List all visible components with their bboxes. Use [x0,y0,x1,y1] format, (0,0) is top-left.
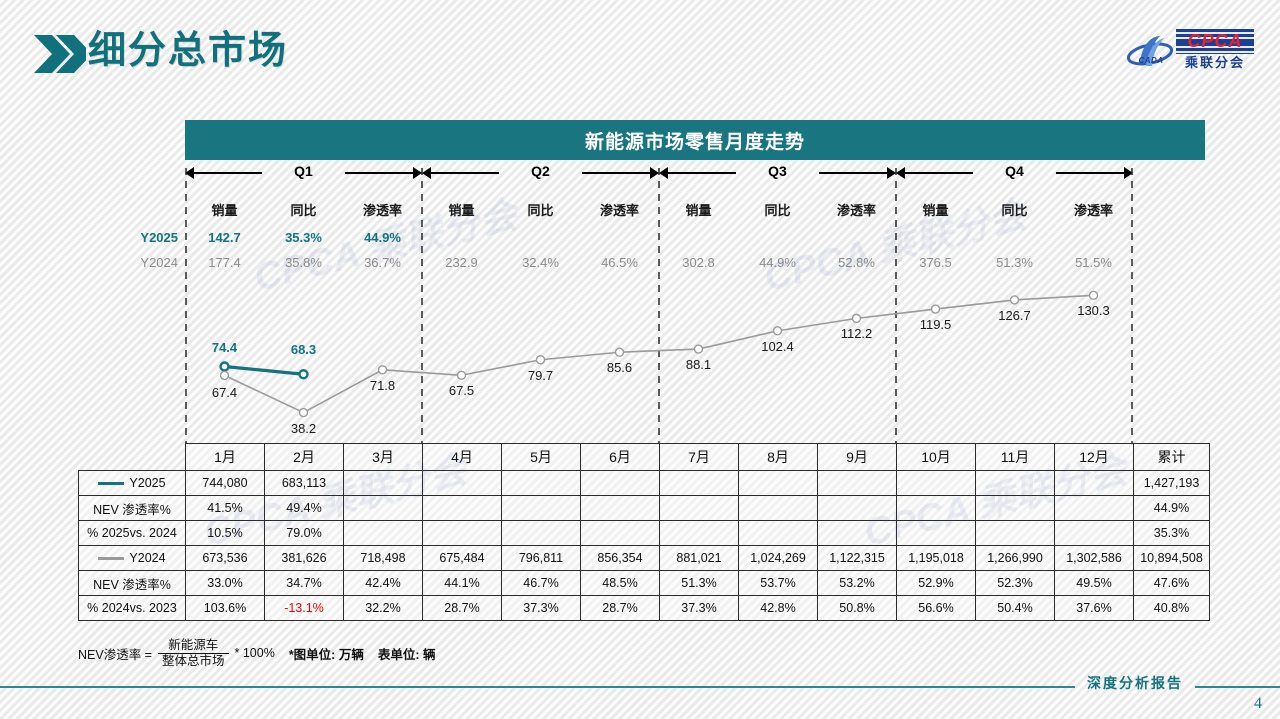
table-cell: 44.9% [1134,496,1210,521]
table-row-label-1: NEV 渗透率% [79,496,186,521]
table-cell [344,471,423,496]
slide-header: 细分总市场 CPCA 乘联分会 CADA [0,0,1280,104]
data-point-y2024-6 [695,345,703,353]
data-label-y2025-1: 68.3 [274,342,334,357]
table-cell [502,471,581,496]
table-row: % 2025vs. 202410.5%79.0%35.3% [79,521,1210,546]
footer-label: 深度分析报告 [1087,677,1183,692]
footnote-suffix: * 100% [235,646,275,660]
row-label-text: NEV 渗透率% [93,503,171,517]
line-chart-plot: 74.468.367.438.271.867.579.785.688.1102.… [185,168,1205,443]
table-row: % 2024vs. 2023103.6%-13.1%32.2%28.7%37.3… [79,596,1210,621]
table-cell: 10,894,508 [1134,546,1210,571]
table-cell: 381,626 [265,546,344,571]
data-label-y2024-0: 67.4 [195,385,255,400]
data-point-y2024-7 [774,327,782,335]
cada-text: CADA [1128,56,1174,65]
cada-swoosh-icon [1126,32,1174,72]
table-cell [818,496,897,521]
table-cell [502,521,581,546]
footnote-numerator: 新能源车 [158,638,229,652]
table-cell: -13.1% [265,596,344,621]
monthly-data-table: 1月2月3月4月5月6月7月8月9月10月11月12月累计 Y2025744,0… [78,443,1210,621]
chart-title: 新能源市场零售月度走势 [185,120,1205,160]
table-cell: 37.3% [660,596,739,621]
table-col-header-5: 6月 [581,444,660,471]
page-number: 4 [1254,695,1262,713]
table-cell: 46.7% [502,571,581,596]
table-cell: 47.6% [1134,571,1210,596]
table-cell: 50.4% [976,596,1055,621]
data-point-y2025-1 [300,370,308,378]
data-point-y2024-5 [616,348,624,356]
table-row: NEV 渗透率%33.0%34.7%42.4%44.1%46.7%48.5%51… [79,571,1210,596]
row-label-text: % 2024vs. 2023 [87,601,177,615]
table-cell: 673,536 [186,546,265,571]
slide-footer: 深度分析报告 4 [0,659,1280,719]
table-cell [976,496,1055,521]
table-row: Y2025744,080683,1131,427,193 [79,471,1210,496]
table-col-header-12: 累计 [1134,444,1210,471]
table-cell [344,521,423,546]
table-cell: 675,484 [423,546,502,571]
data-label-y2024-9: 119.5 [906,317,966,332]
table-row-label-5: % 2024vs. 2023 [79,596,186,621]
data-point-y2024-8 [853,314,861,322]
table-col-header-1: 2月 [265,444,344,471]
table-cell: 49.5% [1055,571,1134,596]
table-cell: 1,024,269 [739,546,818,571]
data-point-y2024-10 [1011,296,1019,304]
table-cell [739,471,818,496]
data-label-y2024-6: 88.1 [669,357,729,372]
table-cell [1055,521,1134,546]
data-label-y2024-5: 85.6 [590,360,650,375]
table-cell: 48.5% [581,571,660,596]
table-row-label-4: NEV 渗透率% [79,571,186,596]
table-cell [897,496,976,521]
data-point-y2024-11 [1090,291,1098,299]
data-label-y2024-3: 67.5 [432,383,492,398]
data-point-y2024-0 [221,371,229,379]
data-label-y2024-2: 71.8 [353,378,413,393]
table-cell [502,496,581,521]
table-row: Y2024673,536381,626718,498675,484796,811… [79,546,1210,571]
table-cell [818,471,897,496]
series-line-y2025 [225,366,304,374]
legend-swatch-teal [98,482,124,485]
table-cell: 53.7% [739,571,818,596]
table-row-label-2: % 2025vs. 2024 [79,521,186,546]
cpca-text: CPCA [1176,29,1254,54]
footer-label-wrap: 深度分析报告 [1075,673,1195,693]
table-col-header-8: 9月 [818,444,897,471]
table-col-header-9: 10月 [897,444,976,471]
table-col-header-2: 3月 [344,444,423,471]
data-label-y2024-11: 130.3 [1064,303,1124,318]
table-cell: 42.8% [739,596,818,621]
cpca-wordmark: CPCA 乘联分会 [1176,29,1254,73]
data-point-y2024-3 [458,371,466,379]
table-cell: 37.3% [502,596,581,621]
table-cell: 52.3% [976,571,1055,596]
data-point-y2024-1 [300,409,308,417]
table-cell: 52.9% [897,571,976,596]
table-cell [660,496,739,521]
table-cell: 718,498 [344,546,423,571]
table-cell: 103.6% [186,596,265,621]
table-cell [660,521,739,546]
table-cell [581,471,660,496]
table-cell [897,471,976,496]
table-cell [423,496,502,521]
data-point-y2024-9 [932,305,940,313]
row-label-text: Y2025 [129,476,165,490]
table-cell [581,521,660,546]
table-cell: 44.1% [423,571,502,596]
table-row: NEV 渗透率%41.5%49.4%44.9% [79,496,1210,521]
table-cell: 1,266,990 [976,546,1055,571]
table-cell: 53.2% [818,571,897,596]
row-label-text: Y2024 [129,551,165,565]
table-col-header-10: 11月 [976,444,1055,471]
table-cell: 40.8% [1134,596,1210,621]
data-label-y2024-1: 38.2 [274,421,334,436]
data-label-y2024-8: 112.2 [827,326,887,341]
table-cell: 1,302,586 [1055,546,1134,571]
table-col-header-11: 12月 [1055,444,1134,471]
table-cell: 881,021 [660,546,739,571]
table-cell: 683,113 [265,471,344,496]
table-cell [581,496,660,521]
table-cell [344,496,423,521]
data-point-y2025-0 [221,362,229,370]
table-cell: 42.4% [344,571,423,596]
line-chart-svg [185,168,1205,443]
table-cell: 50.8% [818,596,897,621]
table-head: 1月2月3月4月5月6月7月8月9月10月11月12月累计 [79,444,1210,471]
table-cell: 744,080 [186,471,265,496]
summary-row-label-y2025: Y2025 [110,230,178,245]
table-row-label-3: Y2024 [79,546,186,571]
table-cell [897,521,976,546]
table-col-header-7: 8月 [739,444,818,471]
table-cell [1055,471,1134,496]
table-corner-cell [79,444,186,471]
table-body: Y2025744,080683,1131,427,193NEV 渗透率%41.5… [79,471,1210,621]
data-label-y2024-10: 126.7 [985,308,1045,323]
table-cell: 856,354 [581,546,660,571]
table-cell [423,521,502,546]
table-cell: 34.7% [265,571,344,596]
data-point-y2024-4 [537,356,545,364]
table-cell [660,471,739,496]
double-chevron-right-icon [34,33,86,75]
table-cell: 49.4% [265,496,344,521]
table-cell: 56.6% [897,596,976,621]
table-cell: 35.3% [1134,521,1210,546]
table-cell [976,471,1055,496]
table-cell: 1,427,193 [1134,471,1210,496]
cpca-sub-text: 乘联分会 [1176,55,1254,71]
legend-swatch-gray [98,557,124,560]
table-cell: 32.2% [344,596,423,621]
table-cell: 33.0% [186,571,265,596]
chart-panel: 新能源市场零售月度走势 [185,120,1205,160]
table-cell: 51.3% [660,571,739,596]
page-title: 细分总市场 [88,27,288,75]
table-col-header-3: 4月 [423,444,502,471]
table-row-label-0: Y2025 [79,471,186,496]
data-label-y2024-7: 102.4 [748,339,808,354]
table-cell: 28.7% [423,596,502,621]
row-label-text: NEV 渗透率% [93,578,171,592]
summary-row-label-y2024: Y2024 [110,255,178,270]
table-cell: 1,122,315 [818,546,897,571]
table-col-header-6: 7月 [660,444,739,471]
table-cell [818,521,897,546]
table-cell: 41.5% [186,496,265,521]
table-cell [1055,496,1134,521]
table-cell [739,521,818,546]
table-cell: 37.6% [1055,596,1134,621]
table-cell: 28.7% [581,596,660,621]
row-label-text: % 2025vs. 2024 [87,526,177,540]
table-col-header-0: 1月 [186,444,265,471]
table-cell: 796,811 [502,546,581,571]
data-label-y2025-0: 74.4 [195,340,255,355]
data-label-y2024-4: 79.7 [511,368,571,383]
table-cell [423,471,502,496]
data-point-y2024-2 [379,366,387,374]
cpca-logo: CPCA 乘联分会 CADA [1126,28,1254,76]
table-cell: 79.0% [265,521,344,546]
table-cell [739,496,818,521]
table-header-row: 1月2月3月4月5月6月7月8月9月10月11月12月累计 [79,444,1210,471]
table-col-header-4: 5月 [502,444,581,471]
table-cell: 1,195,018 [897,546,976,571]
table-cell [976,521,1055,546]
table-cell: 10.5% [186,521,265,546]
